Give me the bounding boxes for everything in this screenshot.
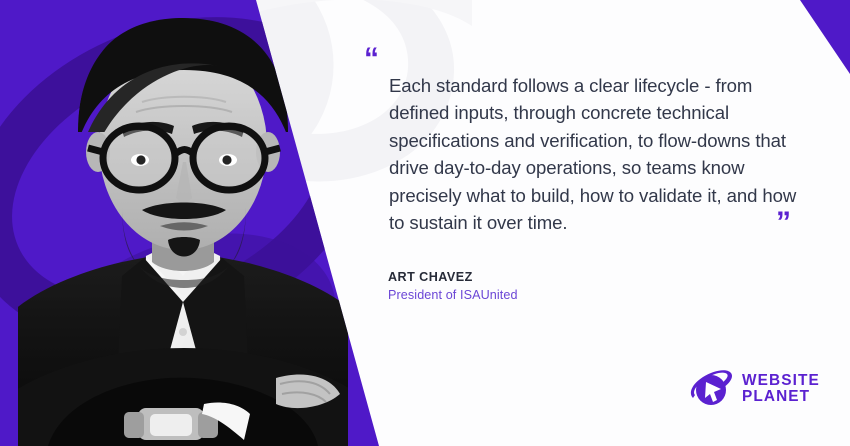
brand-wordmark: WEBSITE PLANET — [742, 373, 820, 404]
quote-open-icon: “ — [364, 44, 380, 74]
quote-close-icon: ” — [776, 208, 792, 238]
brand-line-1: WEBSITE — [742, 373, 820, 389]
testimonial-card: “ Each standard follows a clear lifecycl… — [0, 0, 850, 446]
brand-logo[interactable]: WEBSITE PLANET — [690, 369, 820, 409]
planet-cursor-icon — [690, 369, 734, 409]
quote-text: Each standard follows a clear lifecycle … — [389, 72, 799, 236]
author-role: President of ISAUnited — [388, 288, 518, 302]
author-name: ART CHAVEZ — [388, 270, 518, 284]
brand-line-2: PLANET — [742, 389, 820, 405]
attribution: ART CHAVEZ President of ISAUnited — [388, 270, 518, 302]
